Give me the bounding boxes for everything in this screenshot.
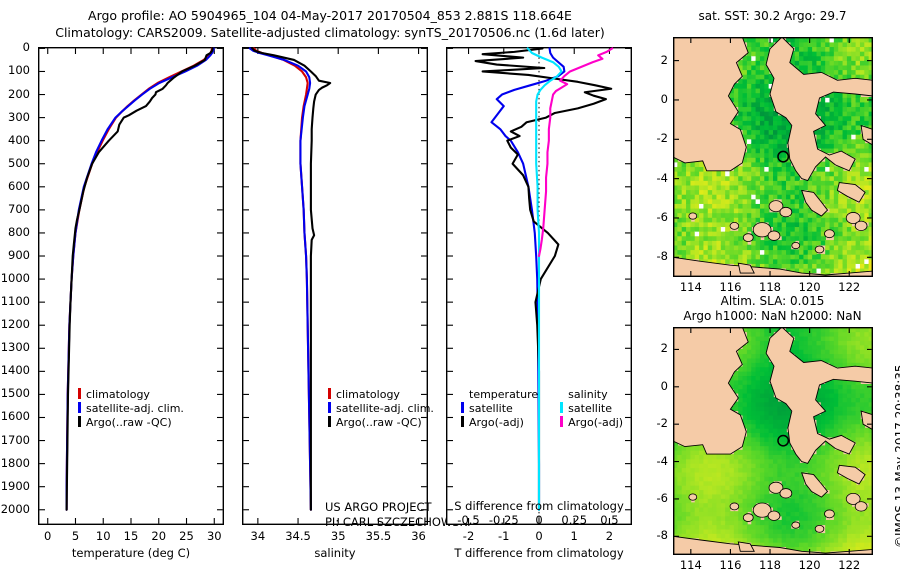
temperature-axis-label: temperature (deg C) <box>38 546 224 560</box>
legend-column: salinitysatelliteArgo(-adj) <box>560 388 623 430</box>
x-tick-label: 0 <box>535 529 542 543</box>
sla-map-title-line1: Altim. SLA: 0.015 <box>660 294 885 308</box>
legend-color-swatch <box>78 388 81 399</box>
salinity-axis-label: salinity <box>242 546 428 560</box>
salinity-plot-area <box>242 47 428 525</box>
depth-tick-label: 100 <box>8 63 30 77</box>
sst-map-title: sat. SST: 30.2 Argo: 29.7 <box>660 9 885 23</box>
depth-tick-label: 600 <box>8 179 30 193</box>
sla-map-title-line2: Argo h1000: NaN h2000: NaN <box>655 309 890 323</box>
x-tick-label: 1 <box>571 529 578 543</box>
map-y-tick-label: 0 <box>661 379 668 393</box>
legend-label: climatology <box>86 388 150 401</box>
legend-color-swatch <box>78 416 81 427</box>
legend-item: satellite-adj. clim. <box>328 402 434 416</box>
depth-tick-label: 1000 <box>1 271 30 285</box>
legend-item: climatology <box>78 388 184 402</box>
legend-color-swatch <box>328 388 331 399</box>
x-tick-label: 5 <box>72 529 79 543</box>
map-x-tick-label: 120 <box>799 558 821 572</box>
depth-tick-label: 2000 <box>1 502 30 516</box>
temperature-panel <box>38 47 224 525</box>
sla-map-yticklabels: 20-2-4-6-8 <box>650 327 670 555</box>
page-title-line2: Climatology: CARS2009. Satellite-adjuste… <box>0 25 660 40</box>
legend-group-label: temperature <box>469 388 538 401</box>
depth-tick-label: 900 <box>8 248 30 262</box>
legend-item: Argo(..raw -QC) <box>328 416 434 430</box>
legend-color-swatch <box>461 416 464 427</box>
depth-tick-label: 400 <box>8 133 30 147</box>
map-y-tick-label: -6 <box>657 210 668 224</box>
map-x-tick-label: 116 <box>719 280 741 294</box>
copyright-label: ©IMOS 13-May-2017 20:38:35 <box>893 364 900 548</box>
difference-legend: temperaturesatelliteArgo(-adj)salinitysa… <box>461 388 623 430</box>
legend-label: climatology <box>336 388 400 401</box>
depth-tick-label: 1200 <box>1 317 30 331</box>
x-tick-label: 15 <box>124 529 139 543</box>
map-x-tick-label: 116 <box>719 558 741 572</box>
legend-label: Argo(-adj) <box>469 416 524 429</box>
sst-map-yticklabels: 20-2-4-6-8 <box>650 37 670 277</box>
legend-item: satellite-adj. clim. <box>78 402 184 416</box>
x-tick-label: 0 <box>44 529 51 543</box>
map-y-tick-label: -2 <box>657 131 668 145</box>
x-tick-label-top: 0 <box>535 513 542 527</box>
map-y-tick-label: 0 <box>661 92 668 106</box>
legend-label: Argo(..raw -QC) <box>336 416 422 429</box>
map-x-tick-label: 118 <box>759 558 781 572</box>
x-tick-label: 2 <box>606 529 613 543</box>
x-tick-label-top: 0.25 <box>561 513 587 527</box>
page-title-line1: Argo profile: AO 5904965_104 04-May-2017… <box>0 8 660 23</box>
legend-color-swatch <box>328 402 331 413</box>
depth-tick-label: 1300 <box>1 340 30 354</box>
legend-color-swatch <box>328 416 331 427</box>
map-y-tick-label: -2 <box>657 416 668 430</box>
x-tick-label: 30 <box>207 529 222 543</box>
x-tick-label: -1 <box>498 529 509 543</box>
temperature-plot-area <box>38 47 224 525</box>
depth-tick-label: 1800 <box>1 456 30 470</box>
difference-panel <box>446 47 632 525</box>
x-tick-label-top: -0.25 <box>489 513 519 527</box>
sla-map-xticklabels: 114116118120122 <box>673 558 873 574</box>
salinity-xticklabels: 3434.53535.536 <box>242 529 428 545</box>
sla-map <box>673 327 873 555</box>
us-argo-project-label: US ARGO PROJECT <box>325 500 432 514</box>
temperature-legend: climatologysatellite-adj. clim.Argo(..ra… <box>78 388 184 430</box>
sst-map <box>673 37 873 277</box>
legend-item: temperature <box>461 388 538 402</box>
legend-color-swatch <box>461 402 464 413</box>
map-x-tick-label: 118 <box>759 280 781 294</box>
legend-label: Argo(-adj) <box>568 416 623 429</box>
salinity-legend: climatologysatellite-adj. clim.Argo(..ra… <box>328 388 434 430</box>
x-tick-label: 35 <box>331 529 346 543</box>
legend-label: satellite <box>568 402 612 415</box>
legend-color-swatch <box>560 402 563 413</box>
legend-item: climatology <box>328 388 434 402</box>
map-y-tick-label: 2 <box>661 53 668 67</box>
temperature-depth-ticklabels: 0100200300400500600700800900100011001200… <box>0 47 34 525</box>
difference-top-xticklabels: -0.5-0.2500.250.5 <box>446 513 632 528</box>
x-tick-label-top: 0.5 <box>600 513 618 527</box>
map-y-tick-label: -4 <box>657 454 668 468</box>
x-tick-label: 34 <box>251 529 266 543</box>
legend-column: temperaturesatelliteArgo(-adj) <box>461 388 538 430</box>
x-tick-label: 25 <box>179 529 194 543</box>
legend-label: satellite-adj. clim. <box>86 402 184 415</box>
map-y-tick-label: 2 <box>661 341 668 355</box>
difference-bottom-xticklabels: -2-1012 <box>446 529 632 545</box>
x-tick-label: 36 <box>411 529 426 543</box>
x-tick-label: 10 <box>96 529 111 543</box>
sla-map-canvas <box>673 327 873 555</box>
depth-tick-label: 1600 <box>1 409 30 423</box>
x-tick-label-top: -0.5 <box>457 513 479 527</box>
legend-label: Argo(..raw -QC) <box>86 416 172 429</box>
salinity-panel <box>242 47 428 525</box>
map-y-tick-label: -8 <box>657 249 668 263</box>
legend-item: satellite <box>461 402 538 416</box>
map-y-tick-label: -4 <box>657 171 668 185</box>
map-y-tick-label: -8 <box>657 528 668 542</box>
depth-tick-label: 1900 <box>1 479 30 493</box>
legend-item: salinity <box>560 388 623 402</box>
legend-item: satellite <box>560 402 623 416</box>
x-tick-label: 20 <box>151 529 166 543</box>
map-x-tick-label: 120 <box>799 280 821 294</box>
difference-top-axis-label: S difference from climatology <box>430 499 648 513</box>
legend-item: Argo(..raw -QC) <box>78 416 184 430</box>
depth-tick-label: 0 <box>23 40 30 54</box>
x-tick-label: 34.5 <box>285 529 311 543</box>
map-y-tick-label: -6 <box>657 491 668 505</box>
legend-label: satellite-adj. clim. <box>336 402 434 415</box>
temperature-xticklabels: 051015202530 <box>38 529 224 545</box>
depth-tick-label: 1500 <box>1 386 30 400</box>
depth-tick-label: 700 <box>8 202 30 216</box>
sst-map-canvas <box>673 37 873 277</box>
depth-tick-label: 300 <box>8 110 30 124</box>
legend-color-swatch <box>560 416 563 427</box>
legend-color-swatch <box>78 402 81 413</box>
legend-item: Argo(-adj) <box>560 416 623 430</box>
legend-item: Argo(-adj) <box>461 416 538 430</box>
depth-tick-label: 500 <box>8 156 30 170</box>
map-x-tick-label: 114 <box>680 280 702 294</box>
x-tick-label: -2 <box>463 529 474 543</box>
map-x-tick-label: 122 <box>838 280 860 294</box>
depth-tick-label: 800 <box>8 225 30 239</box>
difference-bottom-axis-label: T difference from climatology <box>430 546 648 560</box>
depth-tick-label: 200 <box>8 87 30 101</box>
map-x-tick-label: 122 <box>838 558 860 572</box>
depth-tick-label: 1700 <box>1 433 30 447</box>
depth-tick-label: 1100 <box>1 294 30 308</box>
x-tick-label: 35.5 <box>366 529 392 543</box>
depth-tick-label: 1400 <box>1 363 30 377</box>
map-x-tick-label: 114 <box>680 558 702 572</box>
difference-plot-area <box>446 47 632 525</box>
legend-group-label: salinity <box>568 388 607 401</box>
legend-label: satellite <box>469 402 513 415</box>
